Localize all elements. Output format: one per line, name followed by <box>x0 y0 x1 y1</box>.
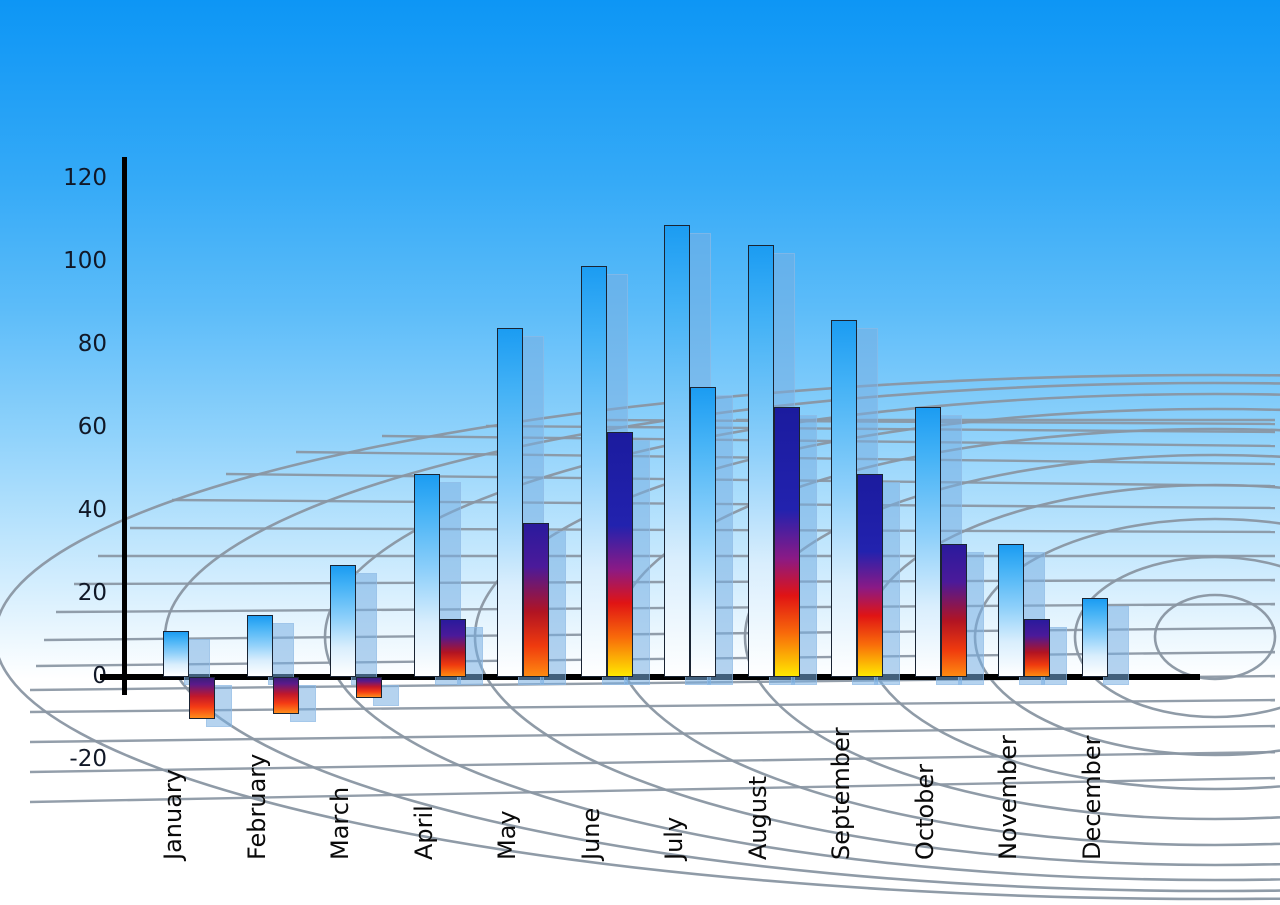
x-tick-label-august: August <box>744 776 772 860</box>
bar-series2-october[interactable] <box>941 544 967 677</box>
x-tick-label-january: January <box>159 769 187 860</box>
x-tick-label-october: October <box>911 764 939 860</box>
bar-series2-august[interactable] <box>774 407 800 677</box>
y-tick-label: 120 <box>55 167 107 190</box>
y-tick-label: 40 <box>55 499 107 522</box>
bar-series1-february[interactable] <box>247 615 273 677</box>
y-tick-label: 80 <box>55 333 107 356</box>
bar-series2-march[interactable] <box>356 677 382 698</box>
y-tick-label: 20 <box>55 582 107 605</box>
x-tick-label-march: March <box>326 787 354 860</box>
bar-series1-august[interactable] <box>748 245 774 677</box>
bar-series1-november[interactable] <box>998 544 1024 677</box>
bar-series2-may[interactable] <box>523 523 549 677</box>
y-axis-line <box>122 157 127 695</box>
chart-canvas: 120100806040200-20 JanuaryFebruaryMarchA… <box>0 0 1280 905</box>
bar-series1-may[interactable] <box>497 328 523 677</box>
x-tick-label-july: July <box>660 817 688 860</box>
bar-series1-june[interactable] <box>581 266 607 677</box>
bar-series2-january[interactable] <box>189 677 215 719</box>
y-tick-label: 60 <box>55 416 107 439</box>
bar-series1-july[interactable] <box>664 225 690 677</box>
bar-series2-june[interactable] <box>607 432 633 677</box>
x-tick-label-december: December <box>1078 736 1106 860</box>
x-tick-label-may: May <box>493 810 521 860</box>
x-tick-label-april: April <box>410 805 438 860</box>
x-tick-label-november: November <box>994 735 1022 860</box>
bar-series1-october[interactable] <box>915 407 941 677</box>
bar-series1-april[interactable] <box>414 474 440 677</box>
bar-series1-december[interactable] <box>1082 598 1108 677</box>
bar-series2-november[interactable] <box>1024 619 1050 677</box>
bar-series2-february[interactable] <box>273 677 299 714</box>
y-tick-label: -20 <box>55 748 107 771</box>
y-tick-label: 100 <box>55 250 107 273</box>
bar-series1-january[interactable] <box>163 631 189 677</box>
bar-series1-march[interactable] <box>330 565 356 677</box>
x-tick-label-september: September <box>827 727 855 860</box>
x-tick-label-june: June <box>577 808 605 860</box>
bar-series2-september[interactable] <box>857 474 883 677</box>
x-tick-label-february: February <box>243 754 271 860</box>
bar-series2-july[interactable] <box>690 387 716 678</box>
bar-series2-april[interactable] <box>440 619 466 677</box>
bar-series1-september[interactable] <box>831 320 857 677</box>
